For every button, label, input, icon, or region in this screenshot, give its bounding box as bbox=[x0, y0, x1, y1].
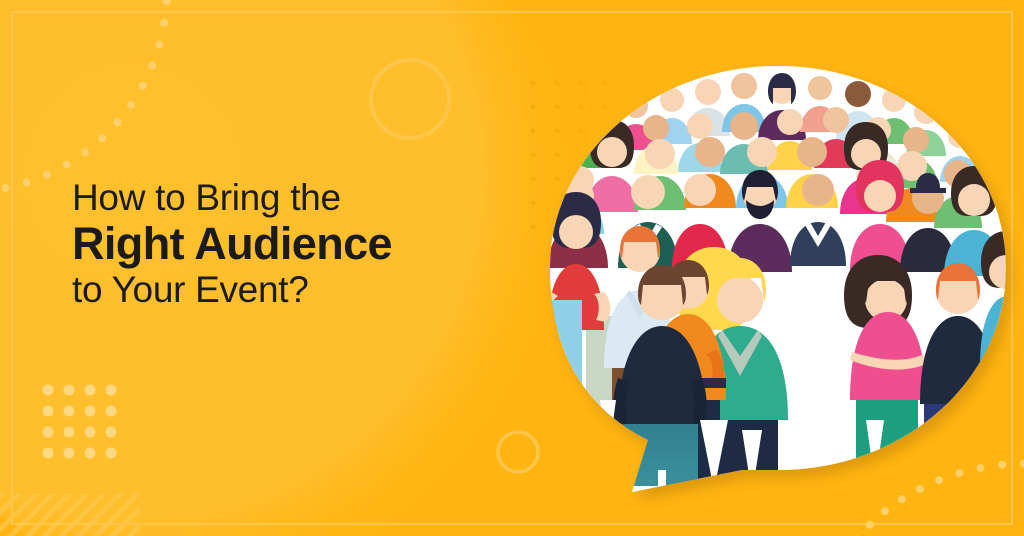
figure-coral-pants-woman bbox=[980, 231, 1024, 480]
headline-line-1: How to Bring the bbox=[72, 178, 502, 218]
headline-line-3: to Your Event? bbox=[72, 270, 502, 310]
headline-block: How to Bring the Right Audience to Your … bbox=[72, 178, 502, 309]
figure-lightblue-jeans bbox=[548, 300, 582, 448]
banner-card: How to Bring the Right Audience to Your … bbox=[0, 0, 1024, 536]
headline-line-2: Right Audience bbox=[72, 220, 502, 268]
crowd-figures bbox=[537, 60, 1024, 514]
